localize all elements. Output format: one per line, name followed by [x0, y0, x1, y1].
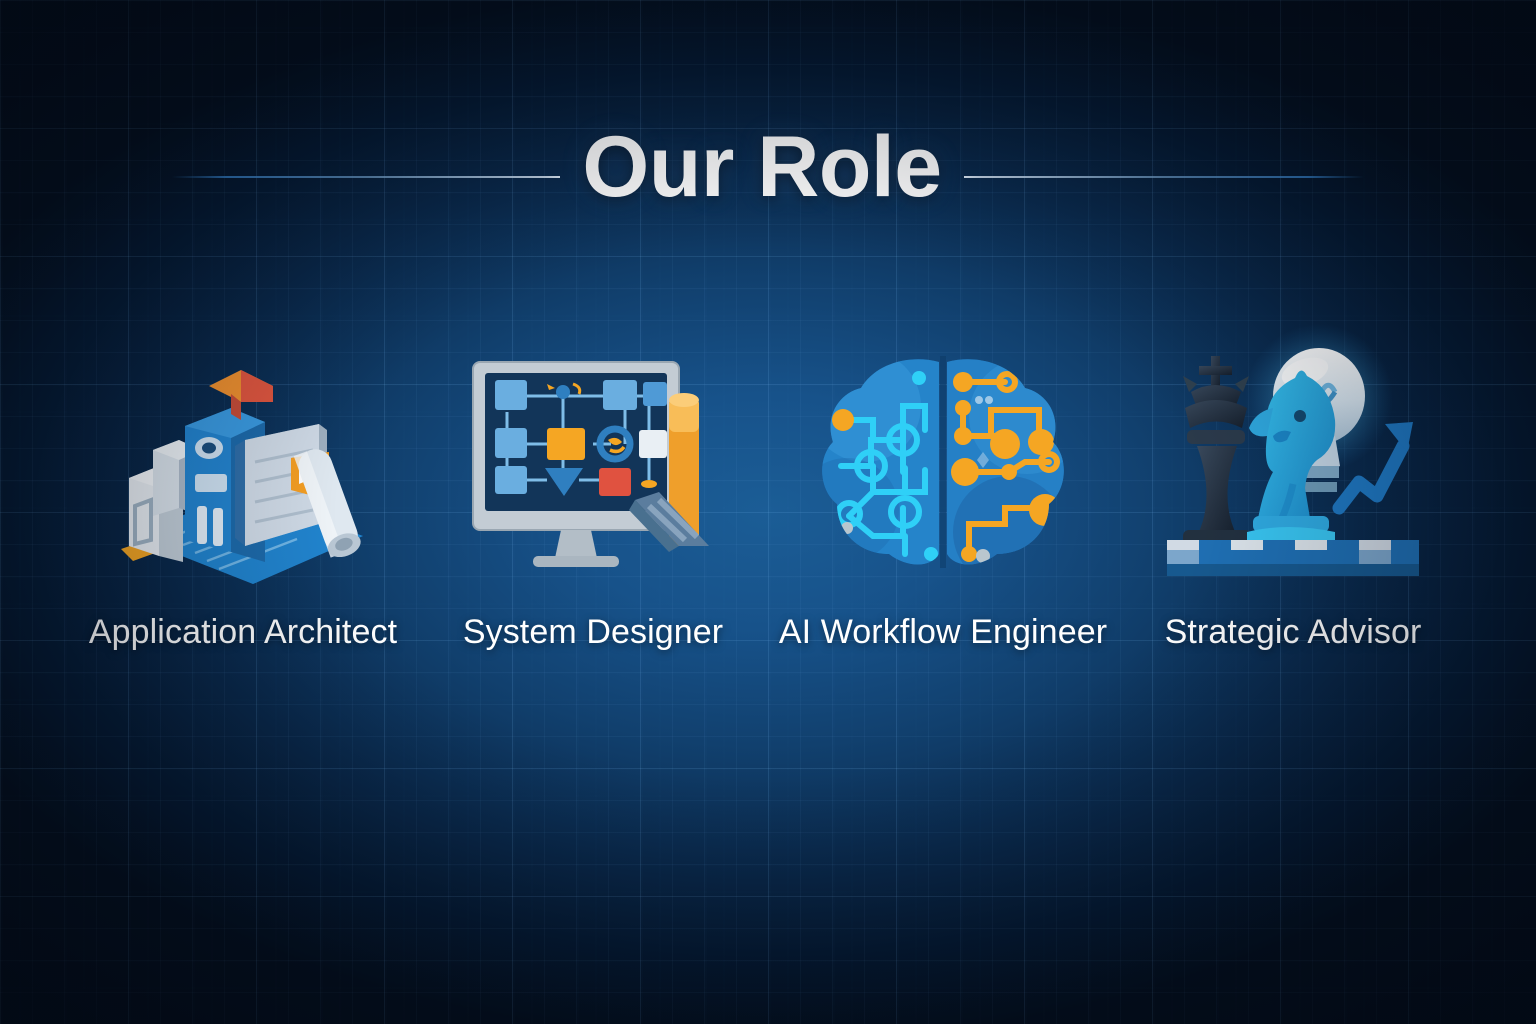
- title-divider-left: [172, 176, 560, 178]
- role-label: Application Architect: [89, 613, 397, 652]
- role-label: System Designer: [463, 613, 723, 652]
- isometric-buildings-blueprint-icon: [113, 340, 373, 595]
- title-row: Our Role: [0, 112, 1536, 222]
- role-card-strategic-advisor[interactable]: Strategic Advisor: [1128, 340, 1458, 652]
- title-divider-right: [964, 176, 1364, 178]
- page-title: Our Role: [582, 124, 941, 210]
- role-card-system-designer[interactable]: System Designer: [428, 340, 758, 652]
- role-card-application-architect[interactable]: Application Architect: [78, 340, 408, 652]
- role-label: Strategic Advisor: [1165, 613, 1422, 652]
- role-card-ai-workflow-engineer[interactable]: AI Workflow Engineer: [778, 340, 1108, 652]
- chess-lightbulb-growth-icon: [1163, 340, 1423, 595]
- monitor-flowchart-icon: [463, 340, 723, 595]
- slide-root: Our Role: [0, 0, 1536, 1024]
- roles-row: Application Architect: [78, 340, 1458, 652]
- role-label: AI Workflow Engineer: [779, 613, 1107, 652]
- split-brain-circuit-icon: [813, 340, 1073, 595]
